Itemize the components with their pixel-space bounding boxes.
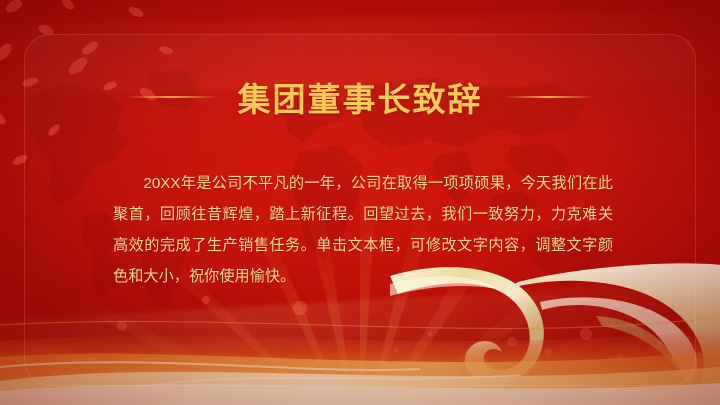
left-rule-decoration [128, 96, 216, 98]
title-row: 集团董事长致辞 [0, 74, 720, 120]
presentation-slide: 集团董事长致辞 20XX年是公司不平凡的一年，公司在取得一项项硕果，今天我们在此… [0, 0, 720, 405]
body-paragraph[interactable]: 20XX年是公司不平凡的一年，公司在取得一项项硕果，今天我们在此聚首，回顾往昔辉… [113, 168, 613, 292]
page-title: 集团董事长致辞 [238, 73, 483, 121]
right-rule-decoration [505, 96, 593, 98]
